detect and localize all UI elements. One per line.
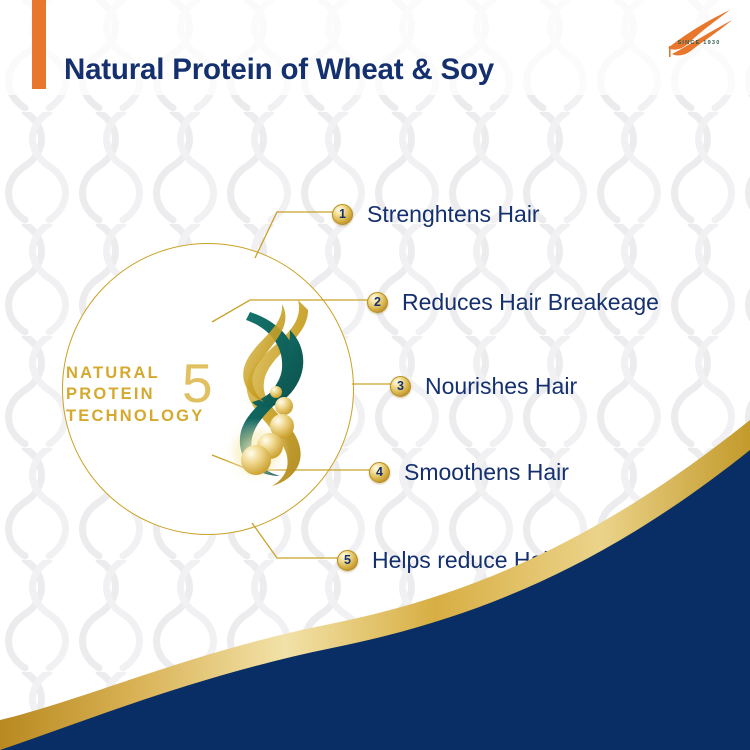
benefit-number-2: 2	[367, 292, 388, 313]
benefit-item-2[interactable]: 2 Reduces Hair Breakeage	[367, 289, 659, 316]
bottom-wave-decoration	[0, 420, 750, 750]
benefit-label-1: Strenghtens Hair	[367, 201, 540, 228]
badge-number-five: 5	[182, 356, 213, 411]
badge-wordmark: NATURAL PROTEIN TECHNOLOGY	[66, 363, 241, 427]
promo-poster: Natural Protein of Wheat & Soy SINCE 193…	[0, 0, 750, 750]
badge-line-2: PROTEIN	[66, 384, 241, 405]
benefit-number-3: 3	[390, 376, 411, 397]
benefit-label-3: Nourishes Hair	[425, 373, 577, 400]
benefit-item-1[interactable]: 1 Strenghtens Hair	[332, 201, 540, 228]
badge-line-1: NATURAL	[66, 363, 241, 384]
benefit-label-2: Reduces Hair Breakeage	[402, 289, 659, 316]
benefit-item-3[interactable]: 3 Nourishes Hair	[390, 373, 577, 400]
flame-leaf-logo-icon	[662, 6, 736, 58]
benefit-number-1: 1	[332, 204, 353, 225]
brand-since-label: SINCE 1930	[662, 40, 736, 46]
